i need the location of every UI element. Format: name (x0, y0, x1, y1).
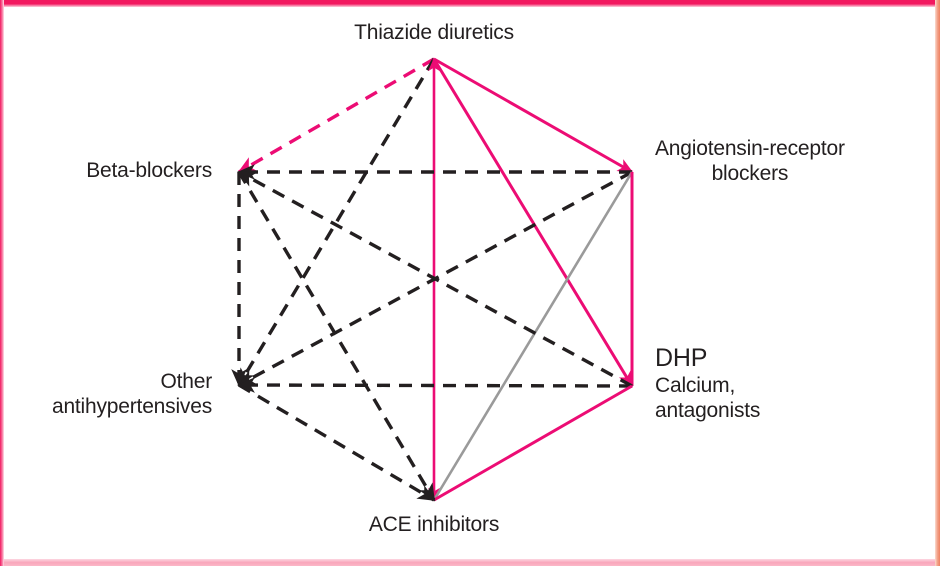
arb-label-line1: Angiotensin-receptor (655, 136, 845, 161)
edge-dhp-to-other (239, 385, 632, 386)
dhp-label-line2: Calcium, (655, 373, 760, 398)
network-graph-canvas (0, 0, 940, 566)
edge-thiazide-to-beta (239, 59, 434, 172)
edge-other-to-ace (239, 385, 434, 500)
other-label-line1: Other (0, 369, 212, 394)
thiazide-label-text: Thiazide diuretics (354, 21, 514, 44)
edge-beta-to-ace (239, 172, 434, 500)
ace-label-text: ACE inhibitors (369, 513, 499, 536)
beta-label-text: Beta-blockers (86, 159, 212, 182)
network-diagram-figure: Thiazide diuretics Angiotensin-receptor … (0, 0, 940, 566)
arb-label-line2: blockers (655, 161, 845, 186)
edge-thiazide-to-other (239, 59, 434, 385)
node-label-thiazide-diuretics: Thiazide diuretics (0, 20, 868, 45)
edge-dhp-to-ace (434, 386, 632, 500)
edge-thiazide-to-arb (434, 59, 632, 172)
dhp-label-line3: antagonists (655, 398, 760, 423)
node-label-dhp-calcium-antagonists: DHP Calcium, antagonists (655, 343, 760, 423)
node-label-ace-inhibitors: ACE inhibitors (0, 512, 868, 537)
dhp-label-line1: DHP (655, 343, 760, 373)
node-label-beta-blockers: Beta-blockers (0, 158, 212, 183)
node-label-angiotensin-receptor-blockers: Angiotensin-receptor blockers (655, 136, 845, 186)
other-label-line2: antihypertensives (0, 394, 212, 419)
node-label-other-antihypertensives: Other antihypertensives (0, 369, 212, 419)
